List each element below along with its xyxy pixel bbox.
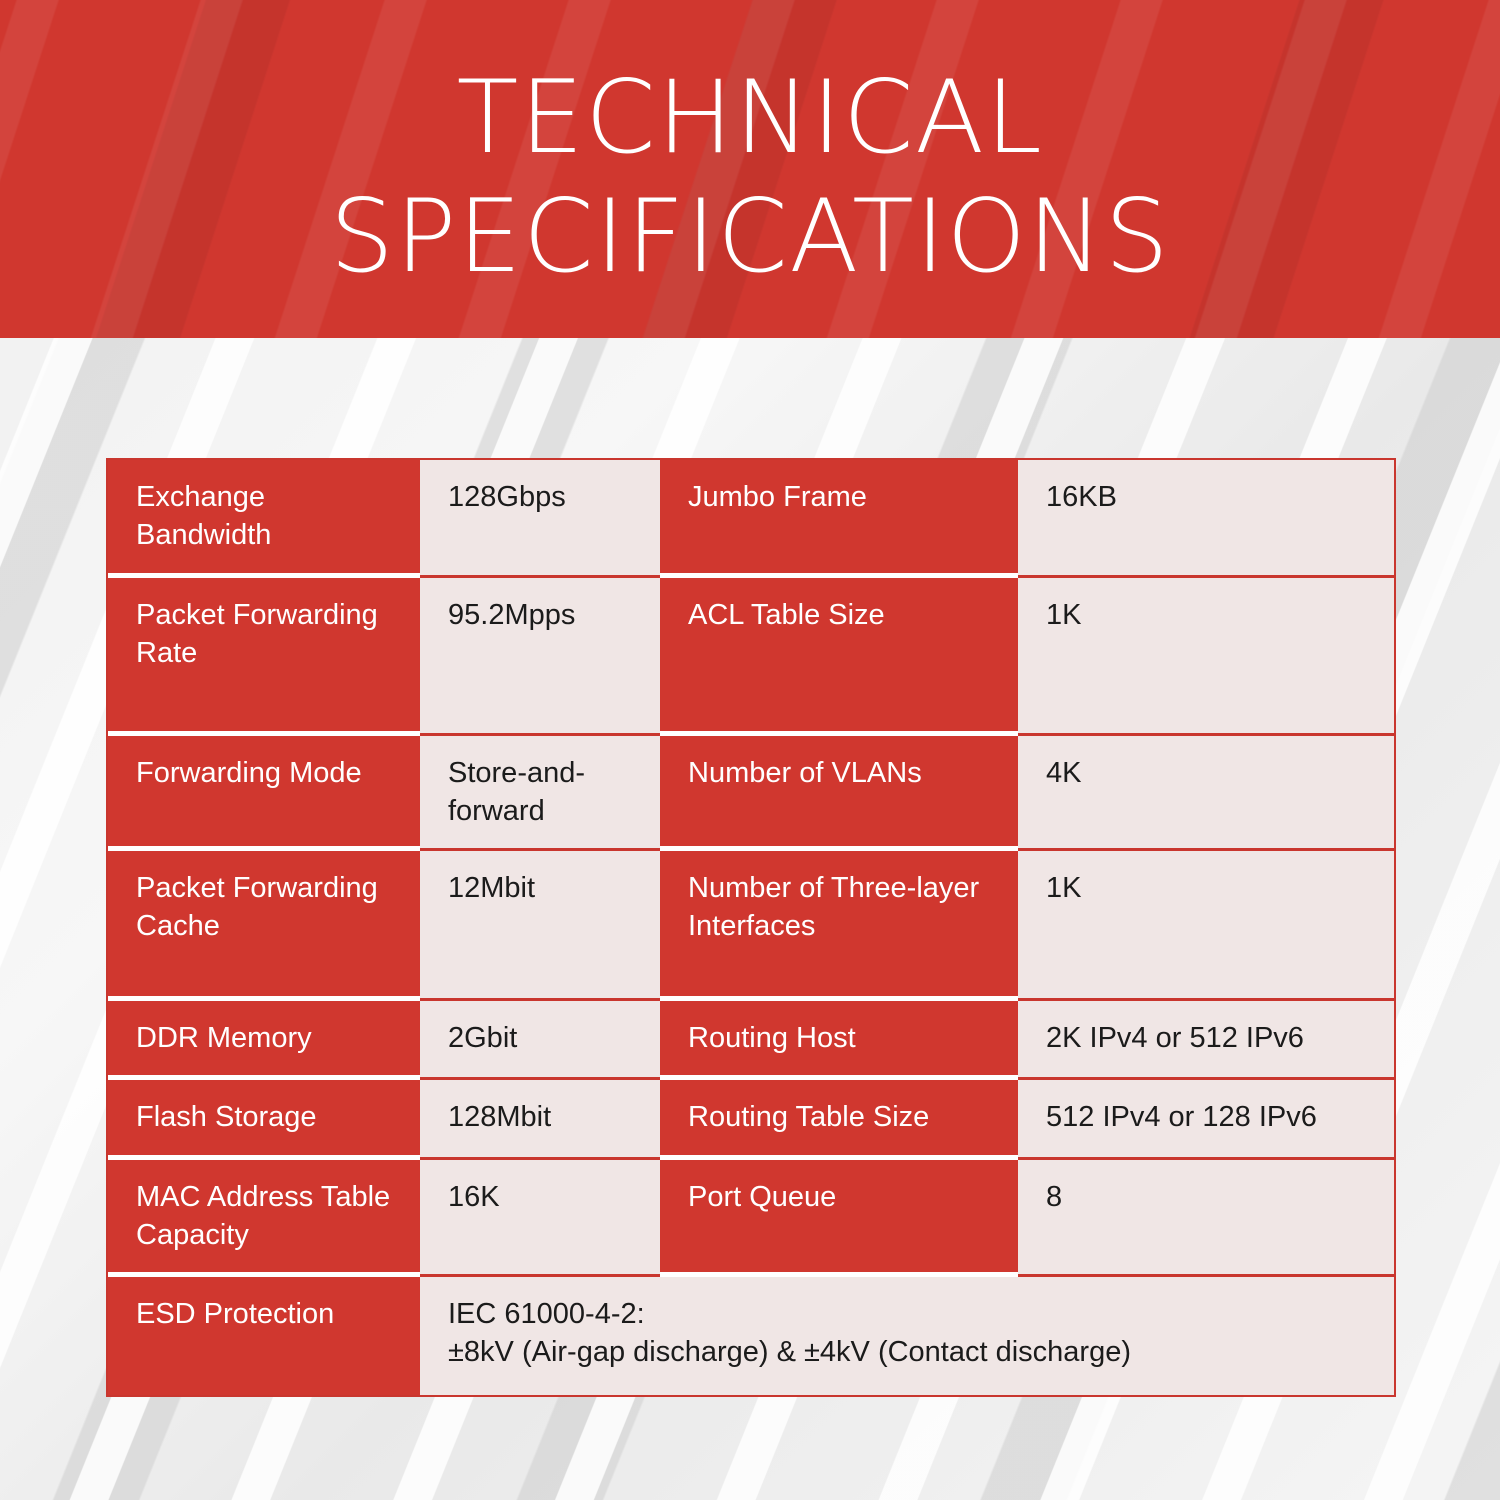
table-row: MAC Address Table Capacity 16K Port Queu… [108, 1160, 1394, 1278]
spec-value: 2Gbit [420, 1001, 660, 1080]
table-row: Flash Storage 128Mbit Routing Table Size… [108, 1080, 1394, 1159]
spec-label: Routing Table Size [660, 1080, 1018, 1159]
esd-value-line-1: IEC 61000-4-2: [448, 1295, 1131, 1333]
spec-label: DDR Memory [108, 1001, 420, 1080]
spec-value: 128Mbit [420, 1080, 660, 1159]
specifications-table: Exchange Bandwidth 128Gbps Jumbo Frame 1… [106, 458, 1396, 1397]
spec-value: Store-and-forward [420, 736, 660, 852]
table-row: Packet Forwarding Rate 95.2Mpps ACL Tabl… [108, 578, 1394, 736]
spec-value: 4K [1018, 736, 1394, 852]
esd-value-line-2: ±8kV (Air-gap discharge) & ±4kV (Contact… [448, 1333, 1131, 1371]
page-title: TECHNICAL SPECIFICATIONS [0, 0, 1500, 296]
spec-label: ACL Table Size [660, 578, 1018, 736]
header-banner: TECHNICAL SPECIFICATIONS [0, 0, 1500, 338]
spec-label: Forwarding Mode [108, 736, 420, 852]
spec-value: 8 [1018, 1160, 1394, 1278]
table-row-esd: ESD Protection IEC 61000-4-2: ±8kV (Air-… [108, 1277, 1394, 1395]
spec-label: Exchange Bandwidth [108, 460, 420, 578]
spec-label: Flash Storage [108, 1080, 420, 1159]
spec-label: Number of Three-layer Interfaces [660, 851, 1018, 1001]
spec-value: 1K [1018, 851, 1394, 1001]
spec-value: 16KB [1018, 460, 1394, 578]
spec-label: Packet Forwarding Rate [108, 578, 420, 736]
spec-value: 1K [1018, 578, 1394, 736]
spec-value: 512 IPv4 or 128 IPv6 [1018, 1080, 1394, 1159]
table-row: Exchange Bandwidth 128Gbps Jumbo Frame 1… [108, 460, 1394, 578]
table-row: Packet Forwarding Cache 12Mbit Number of… [108, 851, 1394, 1001]
table-row: DDR Memory 2Gbit Routing Host 2K IPv4 or… [108, 1001, 1394, 1080]
spec-value: 16K [420, 1160, 660, 1278]
spec-label: Port Queue [660, 1160, 1018, 1278]
spec-value: 2K IPv4 or 512 IPv6 [1018, 1001, 1394, 1080]
page-title-line-1: TECHNICAL [0, 58, 1500, 177]
spec-value-esd: IEC 61000-4-2: ±8kV (Air-gap discharge) … [420, 1277, 1394, 1395]
spec-label: Jumbo Frame [660, 460, 1018, 578]
spec-label: Number of VLANs [660, 736, 1018, 852]
spec-value: 12Mbit [420, 851, 660, 1001]
spec-label: Packet Forwarding Cache [108, 851, 420, 1001]
spec-label: Routing Host [660, 1001, 1018, 1080]
spec-value: 128Gbps [420, 460, 660, 578]
page-title-line-2: SPECIFICATIONS [0, 177, 1500, 296]
spec-value: 95.2Mpps [420, 578, 660, 736]
spec-label: MAC Address Table Capacity [108, 1160, 420, 1278]
spec-label-esd: ESD Protection [108, 1277, 420, 1395]
table-row: Forwarding Mode Store-and-forward Number… [108, 736, 1394, 852]
